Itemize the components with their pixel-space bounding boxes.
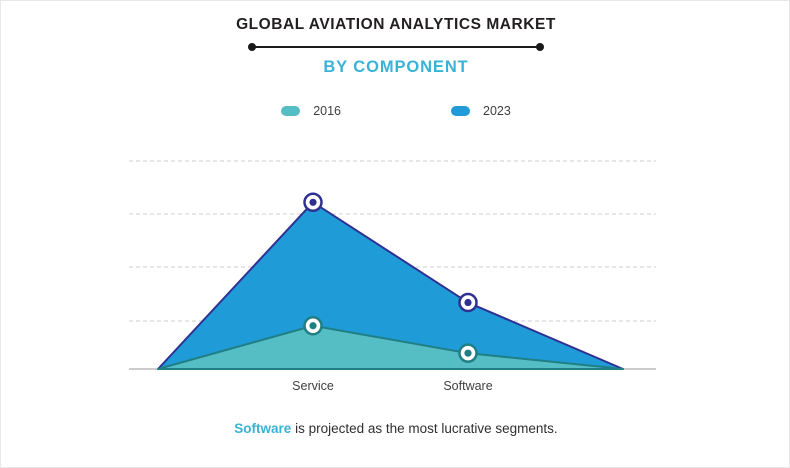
x-axis-label-service: Service [292,379,334,393]
page-title: GLOBAL AVIATION ANALYTICS MARKET [1,15,790,35]
legend-item-2023[interactable]: 2023 [451,104,511,118]
footer-highlight: Software [234,421,291,436]
data-point-2023-Software[interactable] [460,294,477,311]
footer-note: Software is projected as the most lucrat… [1,421,790,436]
area-chart [129,156,656,371]
chart-legend: 2016 2023 [1,104,790,118]
legend-label-2016: 2016 [313,104,341,118]
infographic-canvas: GLOBAL AVIATION ANALYTICS MARKET BY COMP… [0,0,790,468]
x-axis-label-software: Software [443,379,492,393]
data-point-2023-Service[interactable] [305,194,322,211]
header: GLOBAL AVIATION ANALYTICS MARKET BY COMP… [1,15,790,77]
divider-dot-right [536,43,544,51]
title-divider [248,42,544,52]
data-point-2016-Service[interactable] [305,317,322,334]
legend-item-2016[interactable]: 2016 [281,104,341,118]
footer-text: is projected as the most lucrative segme… [291,421,557,436]
page-subtitle: BY COMPONENT [1,58,790,77]
x-axis-labels: ServiceSoftware [129,379,656,397]
chart-plot-area [129,156,656,371]
legend-label-2023: 2023 [483,104,511,118]
data-point-2016-Software[interactable] [460,345,477,362]
legend-swatch-2023 [451,106,470,116]
divider-bar [252,46,540,48]
legend-swatch-2016 [281,106,300,116]
